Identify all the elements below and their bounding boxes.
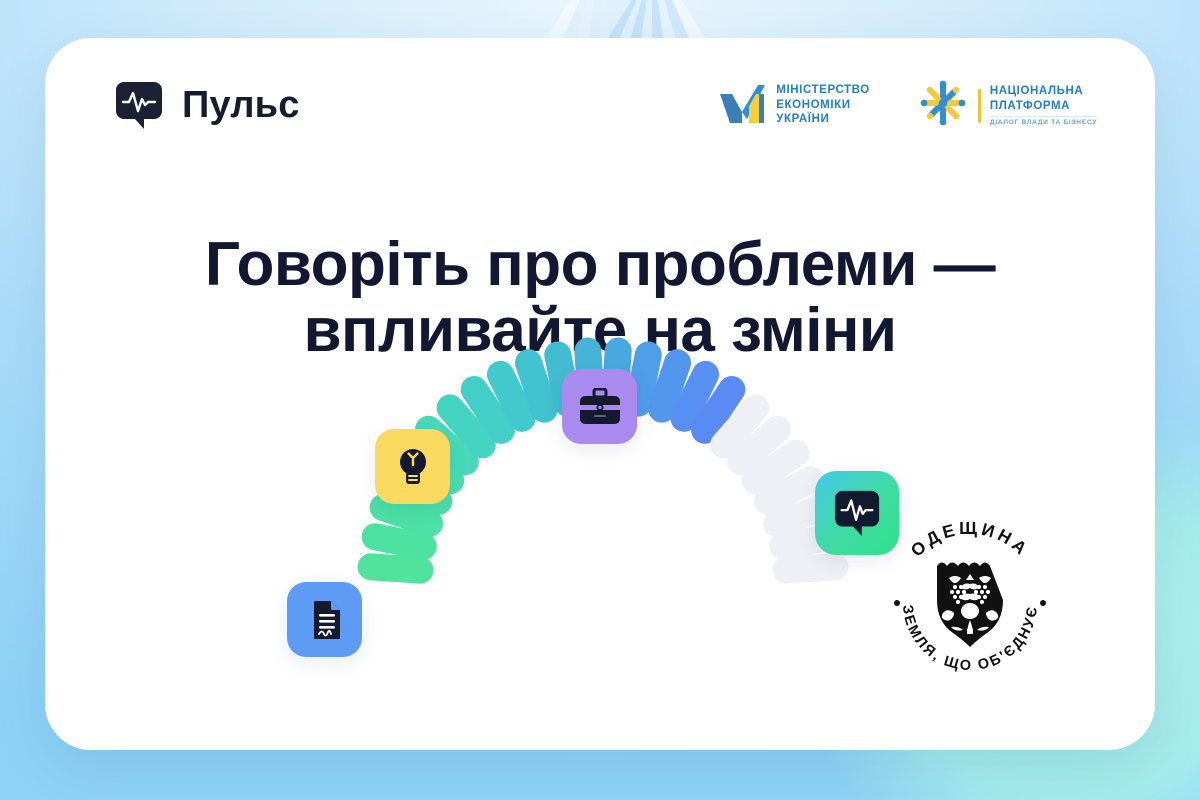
national-platform-tagline: ДІАЛОГ ВЛАДИ ТА БІЗНЕСУ (990, 116, 1097, 126)
brand[interactable]: Пульс (114, 80, 300, 130)
national-platform-pinwheel-icon (918, 78, 968, 133)
pulse-chat-bubble-icon (833, 489, 881, 537)
emblem-top-text: ОДЕЩИНА (907, 518, 1034, 561)
pulse-chat-bubble-icon (114, 80, 164, 130)
briefcase-icon (579, 388, 621, 426)
gauge-segment-empty (772, 552, 850, 584)
brand-name: Пульс (182, 86, 300, 124)
ministry-of-economy-wordmark: МІНІСТЕРСТВО ЕКОНОМІКИ УКРАЇНИ (776, 84, 870, 127)
header: Пульс МІНІСТЕРСТВО ЕКОН (45, 38, 1155, 168)
document-signed-icon (307, 600, 343, 640)
svg-text:ОДЕЩИНА: ОДЕЩИНА (907, 518, 1034, 561)
national-platform-wordmark: НАЦІОНАЛЬНА ПЛАТФОРМА ДІАЛОГ ВЛАДИ ТА БІ… (990, 85, 1097, 126)
partner-logo-national-platform[interactable]: НАЦІОНАЛЬНА ПЛАТФОРМА ДІАЛОГ ВЛАДИ ТА БІ… (918, 78, 1097, 133)
partner-logos: МІНІСТЕРСТВО ЕКОНОМІКИ УКРАЇНИ (718, 78, 1097, 133)
tile-lightbulb[interactable] (375, 429, 450, 504)
odesa-region-coat-of-arms-icon (937, 563, 1003, 648)
lightbulb-icon (396, 446, 430, 488)
odesa-region-emblem: ОДЕЩИНА ЗЕМЛЯ, ЩО ОБ'ЄДНУЄ (875, 508, 1065, 698)
headline-line-1: Говоріть про проблеми — (205, 230, 995, 299)
tile-document[interactable] (287, 582, 362, 657)
ministry-checkmark-icon (718, 82, 766, 129)
partner-logo-ministry-of-economy[interactable]: МІНІСТЕРСТВО ЕКОНОМІКИ УКРАЇНИ (718, 82, 870, 129)
poster-canvas: Пульс МІНІСТЕРСТВО ЕКОН (0, 0, 1200, 800)
tile-briefcase[interactable] (562, 369, 637, 444)
national-platform-divider (978, 89, 981, 123)
